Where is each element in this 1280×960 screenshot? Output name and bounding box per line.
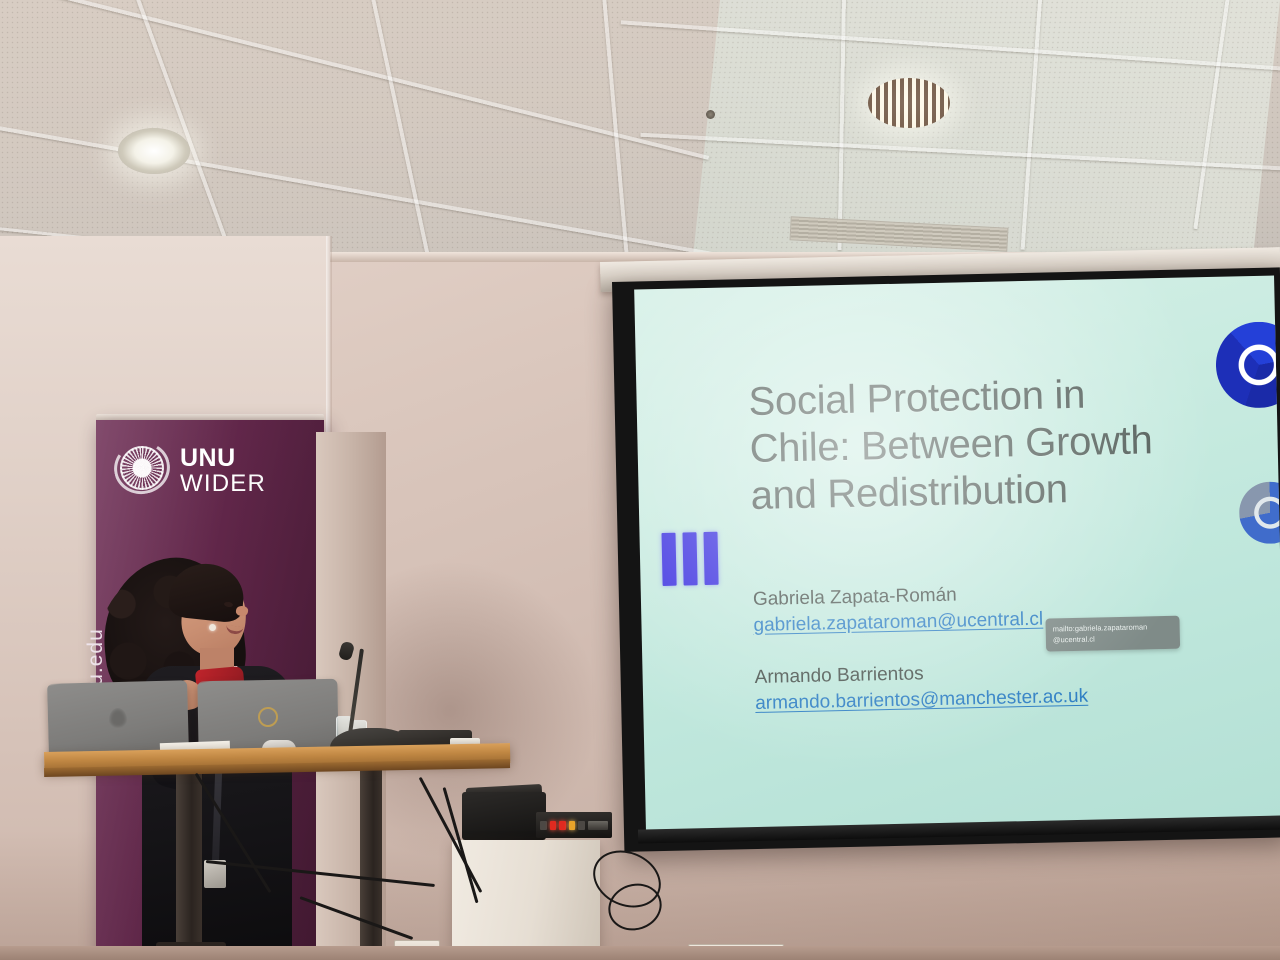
av-indicator [540, 821, 547, 830]
author-email-link[interactable]: gabriela.zapataroman@ucentral.cl [753, 606, 1043, 639]
av-monitor [462, 792, 546, 840]
projected-slide: Social Protection in Chile: Between Grow… [634, 276, 1280, 835]
slide-authors: Gabriela Zapata-Román gabriela.zapatarom… [753, 576, 1256, 743]
presenter-nose [235, 605, 249, 617]
recessed-downlight-icon [118, 128, 190, 174]
projection-screen: Social Protection in Chile: Between Grow… [612, 267, 1280, 851]
sprinkler-head-icon [706, 110, 715, 119]
av-indicator-red [559, 821, 566, 830]
desk-leg [176, 772, 202, 960]
av-display-panel [588, 821, 608, 830]
slide-accent-bars [661, 532, 718, 586]
accent-bar-3 [703, 532, 718, 585]
presenter-earring [209, 624, 216, 631]
accent-bar-1 [661, 533, 676, 586]
av-indicator [578, 821, 585, 830]
apple-logo-icon [109, 708, 128, 728]
slide-title-line-3: and Redistribution [750, 463, 1221, 520]
desk-leg [360, 770, 382, 960]
link-tooltip: mailto:gabriela.zapataroman @ucentral.cl [1045, 616, 1180, 651]
av-indicator-amber [569, 821, 576, 830]
author-entry: Armando Barrientos armando.barrientos@ma… [754, 654, 1255, 717]
accent-bar-2 [682, 532, 697, 585]
slide-title: Social Protection in Chile: Between Grow… [748, 369, 1221, 521]
dell-logo-icon [258, 707, 278, 727]
floor-edge [0, 946, 1280, 960]
tooltip-line-2: @ucentral.cl [1053, 632, 1173, 646]
slide-logo-top-icon [1215, 321, 1280, 409]
recessed-downlight-icon [868, 78, 950, 128]
av-indicator-red [550, 821, 557, 830]
av-control-unit[interactable] [536, 812, 612, 838]
slide-logo-bottom-icon [1239, 481, 1280, 544]
projector-glow [634, 276, 1280, 835]
presentation-photo-scene: Social Protection in Chile: Between Grow… [0, 0, 1280, 960]
